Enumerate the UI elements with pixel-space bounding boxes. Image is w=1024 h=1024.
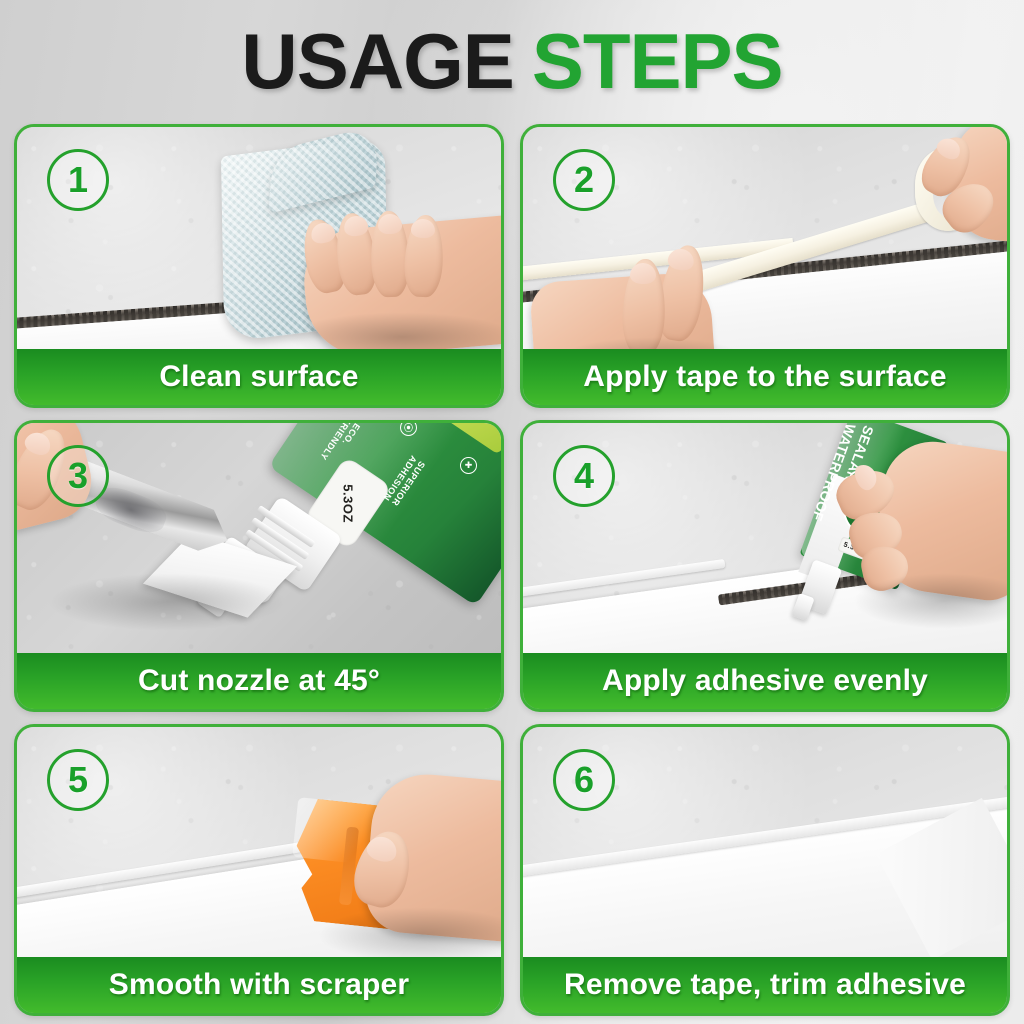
step-number: 4	[574, 458, 594, 494]
step-number-badge-4: 4	[553, 445, 615, 507]
step-caption-bar-2: Apply tape to the surface	[523, 349, 1007, 405]
step-number: 6	[574, 762, 594, 798]
step-caption-text: Remove tape, trim adhesive	[564, 968, 966, 1002]
step-caption-bar-1: Clean surface	[17, 349, 501, 405]
step-caption-bar-6: Remove tape, trim adhesive	[523, 957, 1007, 1013]
step-caption-bar-5: Smooth with scraper	[17, 957, 501, 1013]
step-photo-5: 5	[17, 727, 501, 957]
step-card-4[interactable]: WATERPROOF SEALANT 5.3OZ 4	[520, 420, 1010, 712]
step-photo-3: 5.3OZ ECO.FRIENDLY ⦿ SUPERIORADHESION ✚	[17, 423, 501, 653]
step-caption-text: Cut nozzle at 45°	[138, 664, 380, 698]
step-photo-1: 1	[17, 127, 501, 349]
step-number-badge-1: 1	[47, 149, 109, 211]
title-word-usage: USAGE	[241, 17, 513, 105]
step-caption-text: Apply adhesive evenly	[602, 664, 928, 698]
step-number: 2	[574, 162, 594, 198]
step-number-badge-6: 6	[553, 749, 615, 811]
volume-text: 5.3OZ	[341, 484, 356, 523]
step-caption-bar-4: Apply adhesive evenly	[523, 653, 1007, 709]
page-title: USAGESTEPS	[0, 22, 1024, 100]
plus-icon: ✚	[460, 457, 477, 474]
usage-steps-infographic: USAGESTEPS	[0, 0, 1024, 1024]
step-caption-bar-3: Cut nozzle at 45°	[17, 653, 501, 709]
step-photo-4: WATERPROOF SEALANT 5.3OZ 4	[523, 423, 1007, 653]
step-caption-text: Apply tape to the surface	[583, 360, 946, 394]
step-card-6[interactable]: 6 Remove tape, trim adhesive	[520, 724, 1010, 1016]
step-photo-2: 2	[523, 127, 1007, 349]
step-caption-text: Smooth with scraper	[109, 968, 410, 1002]
step-card-1[interactable]: 1 Clean surface	[14, 124, 504, 408]
step-card-2[interactable]: 2 Apply tape to the surface	[520, 124, 1010, 408]
step-number-badge-5: 5	[47, 749, 109, 811]
step-number: 5	[68, 762, 88, 798]
title-word-steps: STEPS	[532, 17, 783, 105]
step-number: 3	[68, 458, 88, 494]
step-photo-6: 6	[523, 727, 1007, 957]
step-number: 1	[68, 162, 88, 198]
steps-grid: 1 Clean surface	[14, 124, 1010, 1014]
step-card-3[interactable]: 5.3OZ ECO.FRIENDLY ⦿ SUPERIORADHESION ✚	[14, 420, 504, 712]
step-number-badge-2: 2	[553, 149, 615, 211]
step-caption-text: Clean surface	[159, 360, 358, 394]
step-card-5[interactable]: 5 Smooth with scraper	[14, 724, 504, 1016]
step-number-badge-3: 3	[47, 445, 109, 507]
